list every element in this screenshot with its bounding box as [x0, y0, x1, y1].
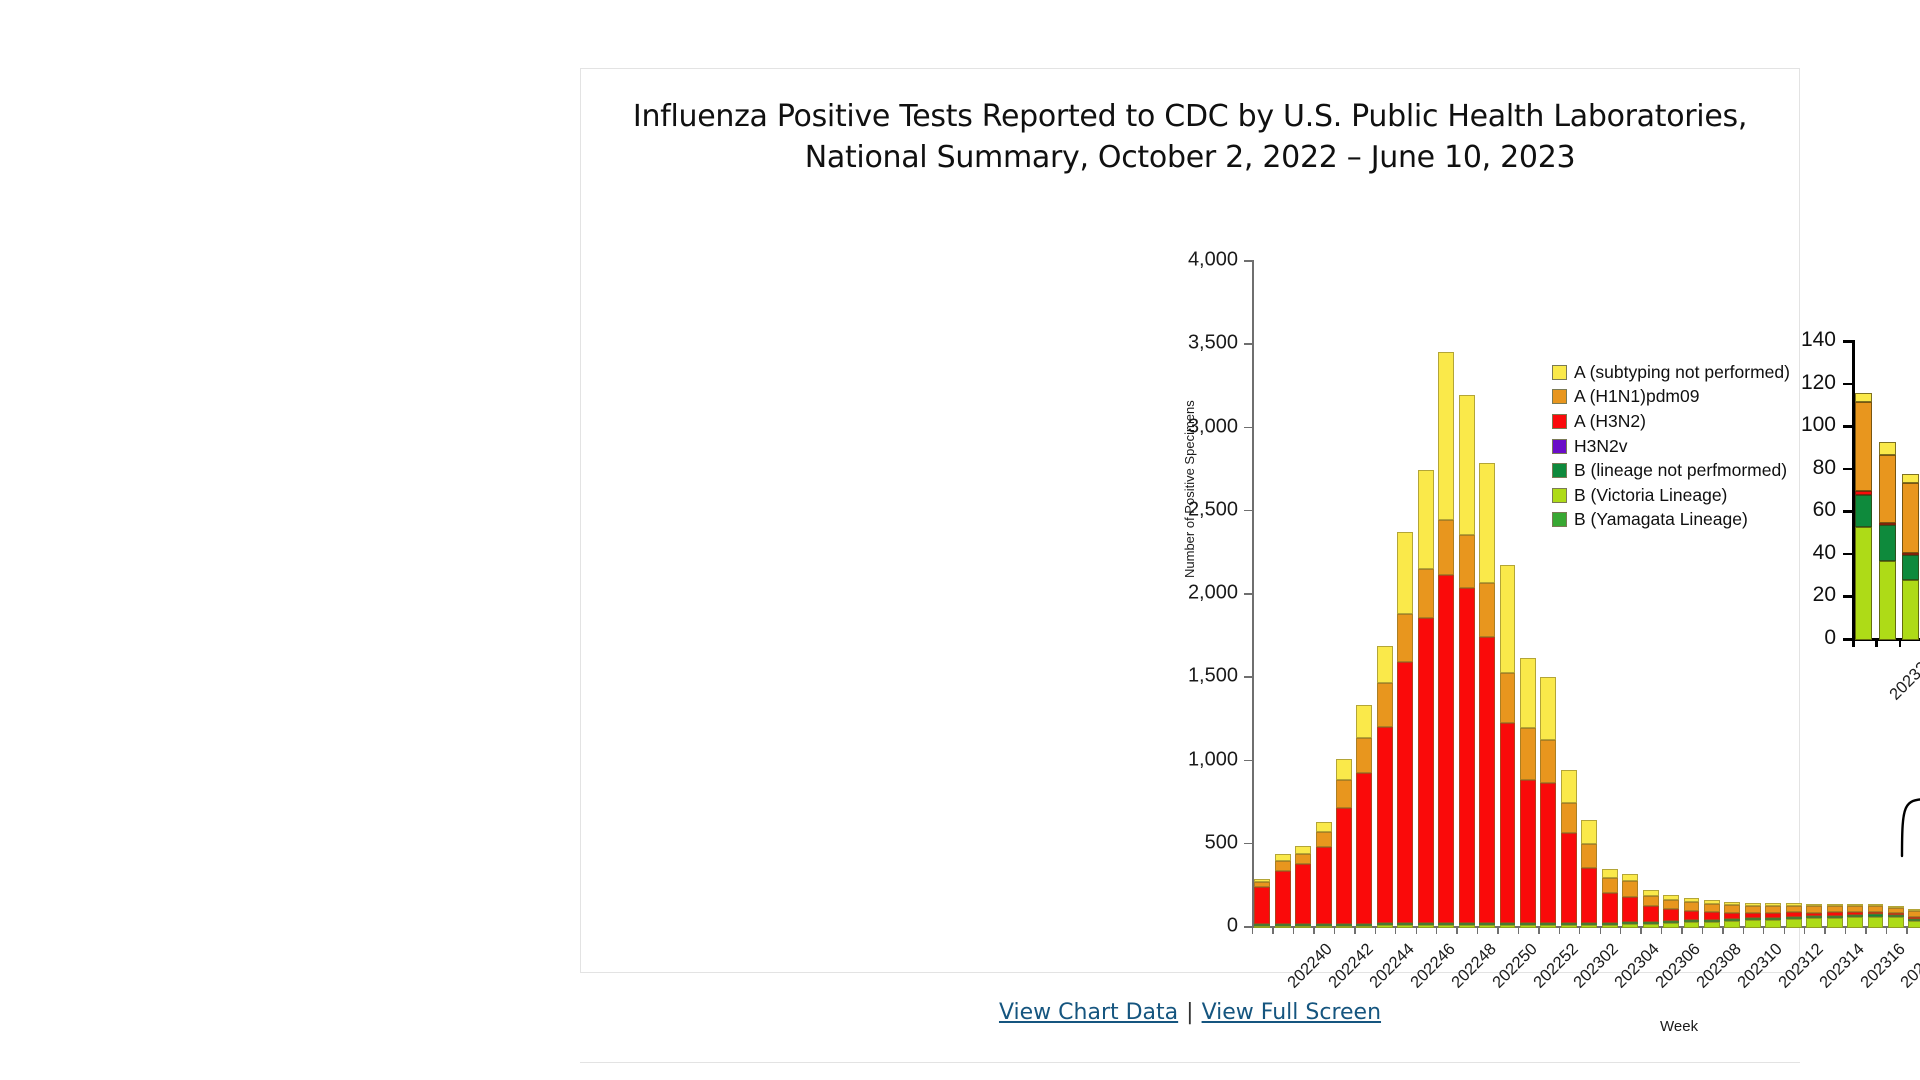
inset-bar-column [1902, 474, 1919, 640]
x-tick [1416, 926, 1417, 934]
annotation-brace [1900, 728, 1920, 858]
x-tick [1559, 926, 1560, 934]
bar-segment-a-h3n2 [1336, 808, 1352, 924]
bar-segment-a-h3n2 [1622, 897, 1638, 923]
bar-segment-a-h1n1pdm09 [1724, 905, 1740, 912]
bar-segment-b-victoria [1786, 919, 1802, 928]
legend-item-label: B (lineage not perfmormed) [1574, 460, 1787, 481]
bar-column [1316, 822, 1332, 928]
inset-x-tick [1852, 638, 1855, 647]
bar-segment-a-h1n1pdm09 [1520, 728, 1536, 780]
bar-column [1724, 902, 1740, 928]
x-tick [1681, 926, 1682, 934]
bar-column [1908, 909, 1920, 928]
inset-y-tick-label: 0 [1824, 626, 1852, 650]
bar-segment-a-h3n2 [1397, 662, 1413, 923]
inset-bar-column [1855, 393, 1872, 640]
chart-title-line-2: National Summary, October 2, 2022 – June… [580, 137, 1800, 178]
x-tick [1477, 926, 1478, 934]
bar-column [1704, 900, 1720, 928]
x-tick [1824, 926, 1825, 934]
bar-segment-a-h3n2 [1540, 783, 1556, 922]
view-full-screen-link[interactable]: View Full Screen [1202, 1000, 1381, 1025]
x-tick-label: 202242 [1325, 940, 1377, 992]
bar-segment-b-victoria [1540, 925, 1556, 928]
bar-segment-a-h1n1pdm09 [1500, 673, 1516, 723]
bar-segment-a-h3n2 [1684, 911, 1700, 921]
x-tick [1722, 926, 1723, 934]
bar-segment-b-victoria [1295, 926, 1311, 928]
bar-segment-b-victoria [1643, 924, 1659, 928]
bar-column [1806, 904, 1822, 928]
inset-bar-segment-a-subtyping-not-performed [1902, 474, 1919, 483]
x-tick [1886, 926, 1887, 934]
x-tick-label: 202314 [1816, 940, 1868, 992]
bar-segment-b-victoria [1724, 921, 1740, 928]
bar-segment-a-h1n1pdm09 [1684, 902, 1700, 910]
x-tick-label: 202248 [1448, 940, 1500, 992]
x-tick-label: 202316 [1857, 940, 1909, 992]
y-tick-label: 1,000 [1188, 748, 1252, 771]
bar-segment-a-h1n1pdm09 [1581, 844, 1597, 868]
bar-segment-a-h1n1pdm09 [1704, 904, 1720, 912]
bar-segment-a-subtyping-not-performed [1581, 820, 1597, 843]
x-tick [1293, 926, 1294, 934]
bar-segment-a-subtyping-not-performed [1540, 677, 1556, 740]
bar-segment-a-h3n2 [1356, 773, 1372, 924]
bar-segment-a-h1n1pdm09 [1377, 683, 1393, 728]
bar-segment-b-victoria [1418, 925, 1434, 928]
legend-swatch-icon [1552, 389, 1567, 404]
bar-segment-a-h1n1pdm09 [1602, 878, 1618, 894]
bar-segment-a-h3n2 [1561, 833, 1577, 923]
bar-column [1479, 463, 1495, 928]
legend-item-b-yamagata[interactable]: B (Yamagata Lineage) [1552, 508, 1852, 533]
bar-segment-a-subtyping-not-performed [1397, 532, 1413, 613]
bar-segment-a-h3n2 [1275, 871, 1291, 924]
bar-column [1786, 903, 1802, 928]
bar-segment-a-h3n2 [1377, 727, 1393, 923]
y-tick-label: 2,000 [1188, 582, 1252, 605]
bar-column [1561, 771, 1577, 929]
x-tick [1743, 926, 1744, 934]
bar-segment-b-victoria [1275, 926, 1291, 928]
x-tick [1845, 926, 1846, 934]
bar-column [1684, 898, 1700, 928]
bar-segment-b-victoria [1316, 926, 1332, 928]
bar-segment-a-subtyping-not-performed [1336, 759, 1352, 780]
x-tick [1784, 926, 1785, 934]
x-tick [1600, 926, 1601, 934]
page-root: Influenza Positive Tests Reported to CDC… [0, 0, 1920, 1080]
bar-segment-a-h3n2 [1254, 887, 1270, 924]
x-tick-label: 202240 [1284, 940, 1336, 992]
inset-x-tick [1875, 638, 1878, 647]
bar-segment-a-subtyping-not-performed [1316, 822, 1332, 833]
y-tick-label: 2,500 [1188, 498, 1252, 521]
bar-column [1745, 903, 1761, 928]
bar-segment-a-subtyping-not-performed [1561, 770, 1577, 802]
bar-segment-a-h3n2 [1663, 909, 1679, 921]
bar-segment-b-victoria [1336, 926, 1352, 928]
bar-segment-b-victoria [1684, 922, 1700, 928]
bar-segment-b-victoria [1827, 918, 1843, 928]
bar-segment-a-subtyping-not-performed [1295, 846, 1311, 853]
bar-segment-a-h3n2 [1438, 575, 1454, 923]
legend-item-label: A (subtyping not performed) [1574, 362, 1790, 383]
bar-segment-a-subtyping-not-performed [1643, 890, 1659, 897]
bar-segment-a-subtyping-not-performed [1418, 470, 1434, 568]
chart-title-line-1: Influenza Positive Tests Reported to CDC… [580, 96, 1800, 137]
legend-item-label: B (Yamagata Lineage) [1574, 509, 1748, 530]
x-tick [1906, 926, 1907, 934]
inset-bar-column [1879, 442, 1896, 640]
x-tick [1375, 926, 1376, 934]
bar-segment-b-victoria [1765, 920, 1781, 928]
bar-segment-b-victoria [1868, 917, 1884, 928]
bar-segment-a-subtyping-not-performed [1479, 463, 1495, 583]
legend-swatch-icon [1552, 488, 1567, 503]
x-tick [1313, 926, 1314, 934]
bar-segment-a-h1n1pdm09 [1663, 900, 1679, 909]
legend-item-h3n2v[interactable]: H3N2v [1552, 434, 1852, 459]
x-tick [1661, 926, 1662, 934]
inset-bar-segment-b-lineage-not-performed [1902, 555, 1919, 581]
x-tick [1497, 926, 1498, 934]
bar-segment-a-h1n1pdm09 [1438, 520, 1454, 575]
inset-y-tick-label: 140 [1801, 328, 1852, 352]
bar-segment-a-h1n1pdm09 [1622, 881, 1638, 897]
y-tick-label: 1,500 [1188, 665, 1252, 688]
bar-column [1663, 895, 1679, 928]
x-tick [1620, 926, 1621, 934]
bar-column [1459, 395, 1475, 928]
bar-segment-a-h1n1pdm09 [1459, 535, 1475, 588]
legend-swatch-icon [1552, 414, 1567, 429]
bar-segment-a-h1n1pdm09 [1540, 740, 1556, 783]
bar-segment-b-victoria [1520, 925, 1536, 928]
bar-segment-a-h3n2 [1704, 912, 1720, 920]
bar-segment-a-h3n2 [1581, 868, 1597, 923]
bar-segment-a-h1n1pdm09 [1316, 832, 1332, 847]
bar-column [1275, 854, 1291, 928]
inset-y-tick-label: 40 [1813, 541, 1852, 565]
bar-column [1520, 658, 1536, 928]
x-tick [1354, 926, 1355, 934]
view-chart-data-link[interactable]: View Chart Data [999, 1000, 1178, 1025]
bar-segment-a-h1n1pdm09 [1336, 780, 1352, 808]
bar-segment-a-h3n2 [1602, 893, 1618, 923]
bar-column [1377, 646, 1393, 928]
bar-segment-a-h1n1pdm09 [1397, 614, 1413, 662]
footer-separator: | [1186, 1000, 1193, 1025]
bar-segment-a-h3n2 [1500, 723, 1516, 923]
bar-column [1847, 904, 1863, 928]
bar-column [1397, 532, 1413, 928]
bar-column [1500, 565, 1516, 928]
bar-segment-a-h1n1pdm09 [1745, 906, 1761, 913]
bar-segment-b-victoria [1581, 925, 1597, 928]
bar-segment-b-victoria [1622, 924, 1638, 928]
inset-y-tick-label: 120 [1801, 371, 1852, 395]
bar-segment-b-victoria [1500, 925, 1516, 928]
x-tick-label: 202310 [1734, 940, 1786, 992]
bar-column [1765, 903, 1781, 928]
x-tick-label: 202306 [1652, 940, 1704, 992]
bar-segment-a-h1n1pdm09 [1275, 861, 1291, 871]
bar-segment-b-victoria [1377, 925, 1393, 928]
bar-segment-b-victoria [1847, 917, 1863, 928]
bar-segment-a-h1n1pdm09 [1479, 583, 1495, 636]
bar-column [1295, 846, 1311, 928]
inset-y-tick-label: 80 [1813, 456, 1852, 480]
y-tick-label: 4,000 [1188, 249, 1252, 272]
inset-bar-segment-a-h1n1pdm09 [1855, 402, 1872, 491]
bar-column [1827, 904, 1843, 928]
bar-segment-b-victoria [1254, 926, 1270, 928]
bar-column [1602, 869, 1618, 928]
bar-column [1540, 677, 1556, 928]
inset-bar-segment-b-victoria [1879, 561, 1896, 640]
bar-segment-a-h1n1pdm09 [1418, 569, 1434, 619]
bar-segment-a-h1n1pdm09 [1561, 803, 1577, 834]
bar-column [1643, 890, 1659, 928]
inset-bar-segment-a-h1n1pdm09 [1902, 483, 1919, 553]
main-y-axis-line [1252, 260, 1254, 928]
y-tick-label: 3,500 [1188, 332, 1252, 355]
x-tick-label: 202312 [1775, 940, 1827, 992]
bar-segment-a-subtyping-not-performed [1356, 705, 1372, 738]
bar-segment-a-h3n2 [1316, 847, 1332, 924]
y-tick-label: 500 [1205, 831, 1252, 854]
bar-column [1868, 904, 1884, 928]
x-tick-label: 202308 [1693, 940, 1745, 992]
x-tick [1252, 926, 1253, 934]
bar-segment-b-victoria [1908, 921, 1920, 928]
bar-segment-a-h1n1pdm09 [1786, 906, 1802, 913]
bar-segment-b-victoria [1356, 926, 1372, 928]
bar-column [1581, 820, 1597, 928]
bar-segment-b-victoria [1479, 925, 1495, 928]
legend-item-b-lineage-not-performed[interactable]: B (lineage not perfmormed) [1552, 458, 1852, 483]
inset-bar-segment-a-h1n1pdm09 [1879, 455, 1896, 523]
legend-swatch-icon [1552, 365, 1567, 380]
x-tick [1518, 926, 1519, 934]
x-tick [1640, 926, 1641, 934]
x-tick-label: 202304 [1611, 940, 1663, 992]
bar-segment-a-h3n2 [1459, 588, 1475, 922]
bar-column [1418, 470, 1434, 928]
bar-column [1438, 352, 1454, 928]
bar-segment-b-victoria [1745, 920, 1761, 928]
x-tick-label: 202252 [1530, 940, 1582, 992]
bar-segment-b-victoria [1459, 925, 1475, 928]
y-tick-label: 0 [1227, 915, 1252, 938]
x-tick [1395, 926, 1396, 934]
bar-segment-a-h1n1pdm09 [1765, 906, 1781, 913]
brace-icon [1900, 728, 1920, 858]
legend-item-label: B (Victoria Lineage) [1574, 485, 1727, 506]
bar-column [1356, 705, 1372, 928]
legend-item-b-victoria[interactable]: B (Victoria Lineage) [1552, 483, 1852, 508]
bar-segment-a-subtyping-not-performed [1438, 352, 1454, 520]
influenza-chart-figure: Influenza Positive Tests Reported to CDC… [580, 68, 1800, 978]
bar-segment-a-h3n2 [1643, 906, 1659, 922]
x-tick [1456, 926, 1457, 934]
legend-swatch-icon [1552, 512, 1567, 527]
bar-segment-b-victoria [1806, 918, 1822, 928]
bar-segment-b-victoria [1704, 922, 1720, 928]
inset-plot-area: 020406080100120140 202320202322202324202… [1852, 340, 1920, 640]
inset-bar-segment-b-victoria [1902, 580, 1919, 640]
x-tick [1865, 926, 1866, 934]
bar-segment-a-h1n1pdm09 [1356, 738, 1372, 773]
inset-y-tick-label: 100 [1801, 413, 1852, 437]
bar-segment-a-h1n1pdm09 [1643, 896, 1659, 906]
x-tick [1538, 926, 1539, 934]
chart-title: Influenza Positive Tests Reported to CDC… [580, 96, 1800, 178]
bar-segment-b-victoria [1438, 925, 1454, 928]
bar-segment-b-victoria [1397, 925, 1413, 928]
bar-segment-a-subtyping-not-performed [1275, 854, 1291, 861]
legend-item-label: H3N2v [1574, 436, 1628, 457]
x-tick [1334, 926, 1335, 934]
legend-swatch-icon [1552, 439, 1567, 454]
bottom-divider [580, 1062, 1800, 1063]
x-tick-label: 202244 [1366, 940, 1418, 992]
x-tick [1804, 926, 1805, 934]
bar-segment-a-subtyping-not-performed [1500, 565, 1516, 673]
legend-swatch-icon [1552, 463, 1567, 478]
legend-item-label: A (H1N1)pdm09 [1574, 386, 1699, 407]
x-tick [1436, 926, 1437, 934]
bar-segment-a-subtyping-not-performed [1622, 874, 1638, 881]
bar-segment-a-h3n2 [1479, 637, 1495, 923]
y-tick-label: 3,000 [1188, 415, 1252, 438]
bar-column [1336, 759, 1352, 928]
inset-y-tick-label: 20 [1813, 583, 1852, 607]
bar-segment-a-h3n2 [1418, 618, 1434, 922]
inset-bar-segment-b-lineage-not-performed [1855, 495, 1872, 527]
x-tick [1702, 926, 1703, 934]
bar-segment-b-victoria [1663, 923, 1679, 928]
bar-column [1622, 874, 1638, 928]
inset-y-tick-label: 60 [1813, 498, 1852, 522]
bar-segment-a-subtyping-not-performed [1459, 395, 1475, 535]
bar-segment-b-victoria [1602, 925, 1618, 928]
inset-bar-segment-a-subtyping-not-performed [1855, 393, 1872, 402]
bar-column [1888, 906, 1904, 928]
x-tick-label: 202250 [1489, 940, 1541, 992]
bar-segment-a-subtyping-not-performed [1520, 658, 1536, 728]
legend-item-label: A (H3N2) [1574, 411, 1646, 432]
bar-segment-a-subtyping-not-performed [1602, 869, 1618, 877]
inset-bar-segment-a-subtyping-not-performed [1879, 442, 1896, 455]
x-tick [1763, 926, 1764, 934]
inset-bar-segment-b-victoria [1855, 527, 1872, 640]
bar-segment-a-h3n2 [1295, 864, 1311, 924]
inset-x-tick [1899, 638, 1902, 647]
bar-segment-a-subtyping-not-performed [1377, 646, 1393, 683]
bar-segment-b-victoria [1561, 925, 1577, 928]
footer-links: View Chart Data|View Full Screen [580, 1000, 1800, 1025]
x-tick-label: 202302 [1571, 940, 1623, 992]
bar-segment-a-h3n2 [1520, 780, 1536, 923]
x-tick [1272, 926, 1273, 934]
x-tick [1579, 926, 1580, 934]
bar-segment-b-victoria [1888, 917, 1904, 928]
x-tick-label: 202246 [1407, 940, 1459, 992]
bar-column [1254, 879, 1270, 928]
inset-bar-segment-b-lineage-not-performed [1879, 525, 1896, 561]
bar-segment-a-h1n1pdm09 [1295, 854, 1311, 865]
